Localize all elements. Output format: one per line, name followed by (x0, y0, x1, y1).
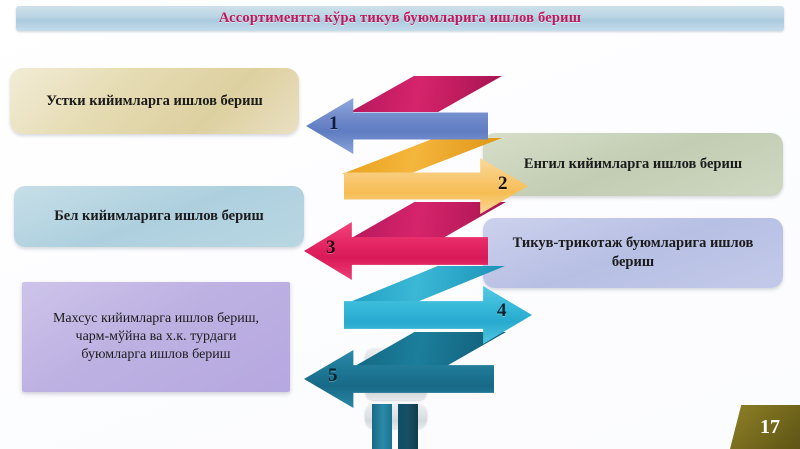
stem-left (372, 404, 392, 449)
page-number-badge: 17 (730, 405, 800, 449)
label-box-light-wear-text: Енгил кийимларга ишлов бериш (524, 155, 742, 174)
label-box-special-wear-text: Махсус кийимларга ишлов бериш, чарм-мўйн… (53, 310, 259, 364)
slide-title-bar: Ассортиментга кўра тикув буюмларига ишло… (16, 6, 784, 31)
label-box-upper-wear[interactable]: Устки кийимларга ишлов бериш (10, 68, 299, 134)
connector-ribbon-4 (345, 266, 505, 304)
connector-ribbon-2 (342, 138, 502, 174)
arrow-number-3: 3 (326, 237, 336, 259)
label-box-light-wear[interactable]: Енгил кийимларга ишлов бериш (483, 133, 783, 196)
connector-ribbon-5 (348, 332, 506, 370)
label-box-waist-wear[interactable]: Бел кийимларига ишлов бериш (14, 186, 304, 247)
label-box-special-wear[interactable]: Махсус кийимларга ишлов бериш, чарм-мўйн… (22, 282, 290, 392)
connector-ribbon-1 (350, 76, 502, 112)
page-title: Ассортиментга кўра тикув буюмларига ишло… (219, 10, 581, 27)
label-box-knitwear[interactable]: Тикув-трикотаж буюмларига ишлов бериш (483, 218, 783, 288)
slide-canvas: Ассортиментга кўра тикув буюмларига ишло… (0, 0, 800, 449)
arrow-number-2: 2 (498, 173, 508, 195)
label-box-waist-wear-text: Бел кийимларига ишлов бериш (54, 207, 264, 226)
stem-right (398, 404, 418, 449)
zigzag-arrow-diagram: 1 2 3 4 5 (290, 70, 520, 410)
arrow-number-5: 5 (328, 365, 338, 387)
arrow-number-1: 1 (329, 113, 339, 135)
label-box-knitwear-text: Тикув-трикотаж буюмларига ишлов бериш (493, 234, 773, 271)
label-box-upper-wear-text: Устки кийимларга ишлов бериш (46, 92, 262, 111)
page-number: 17 (750, 416, 780, 439)
arrow-number-4: 4 (497, 300, 507, 322)
